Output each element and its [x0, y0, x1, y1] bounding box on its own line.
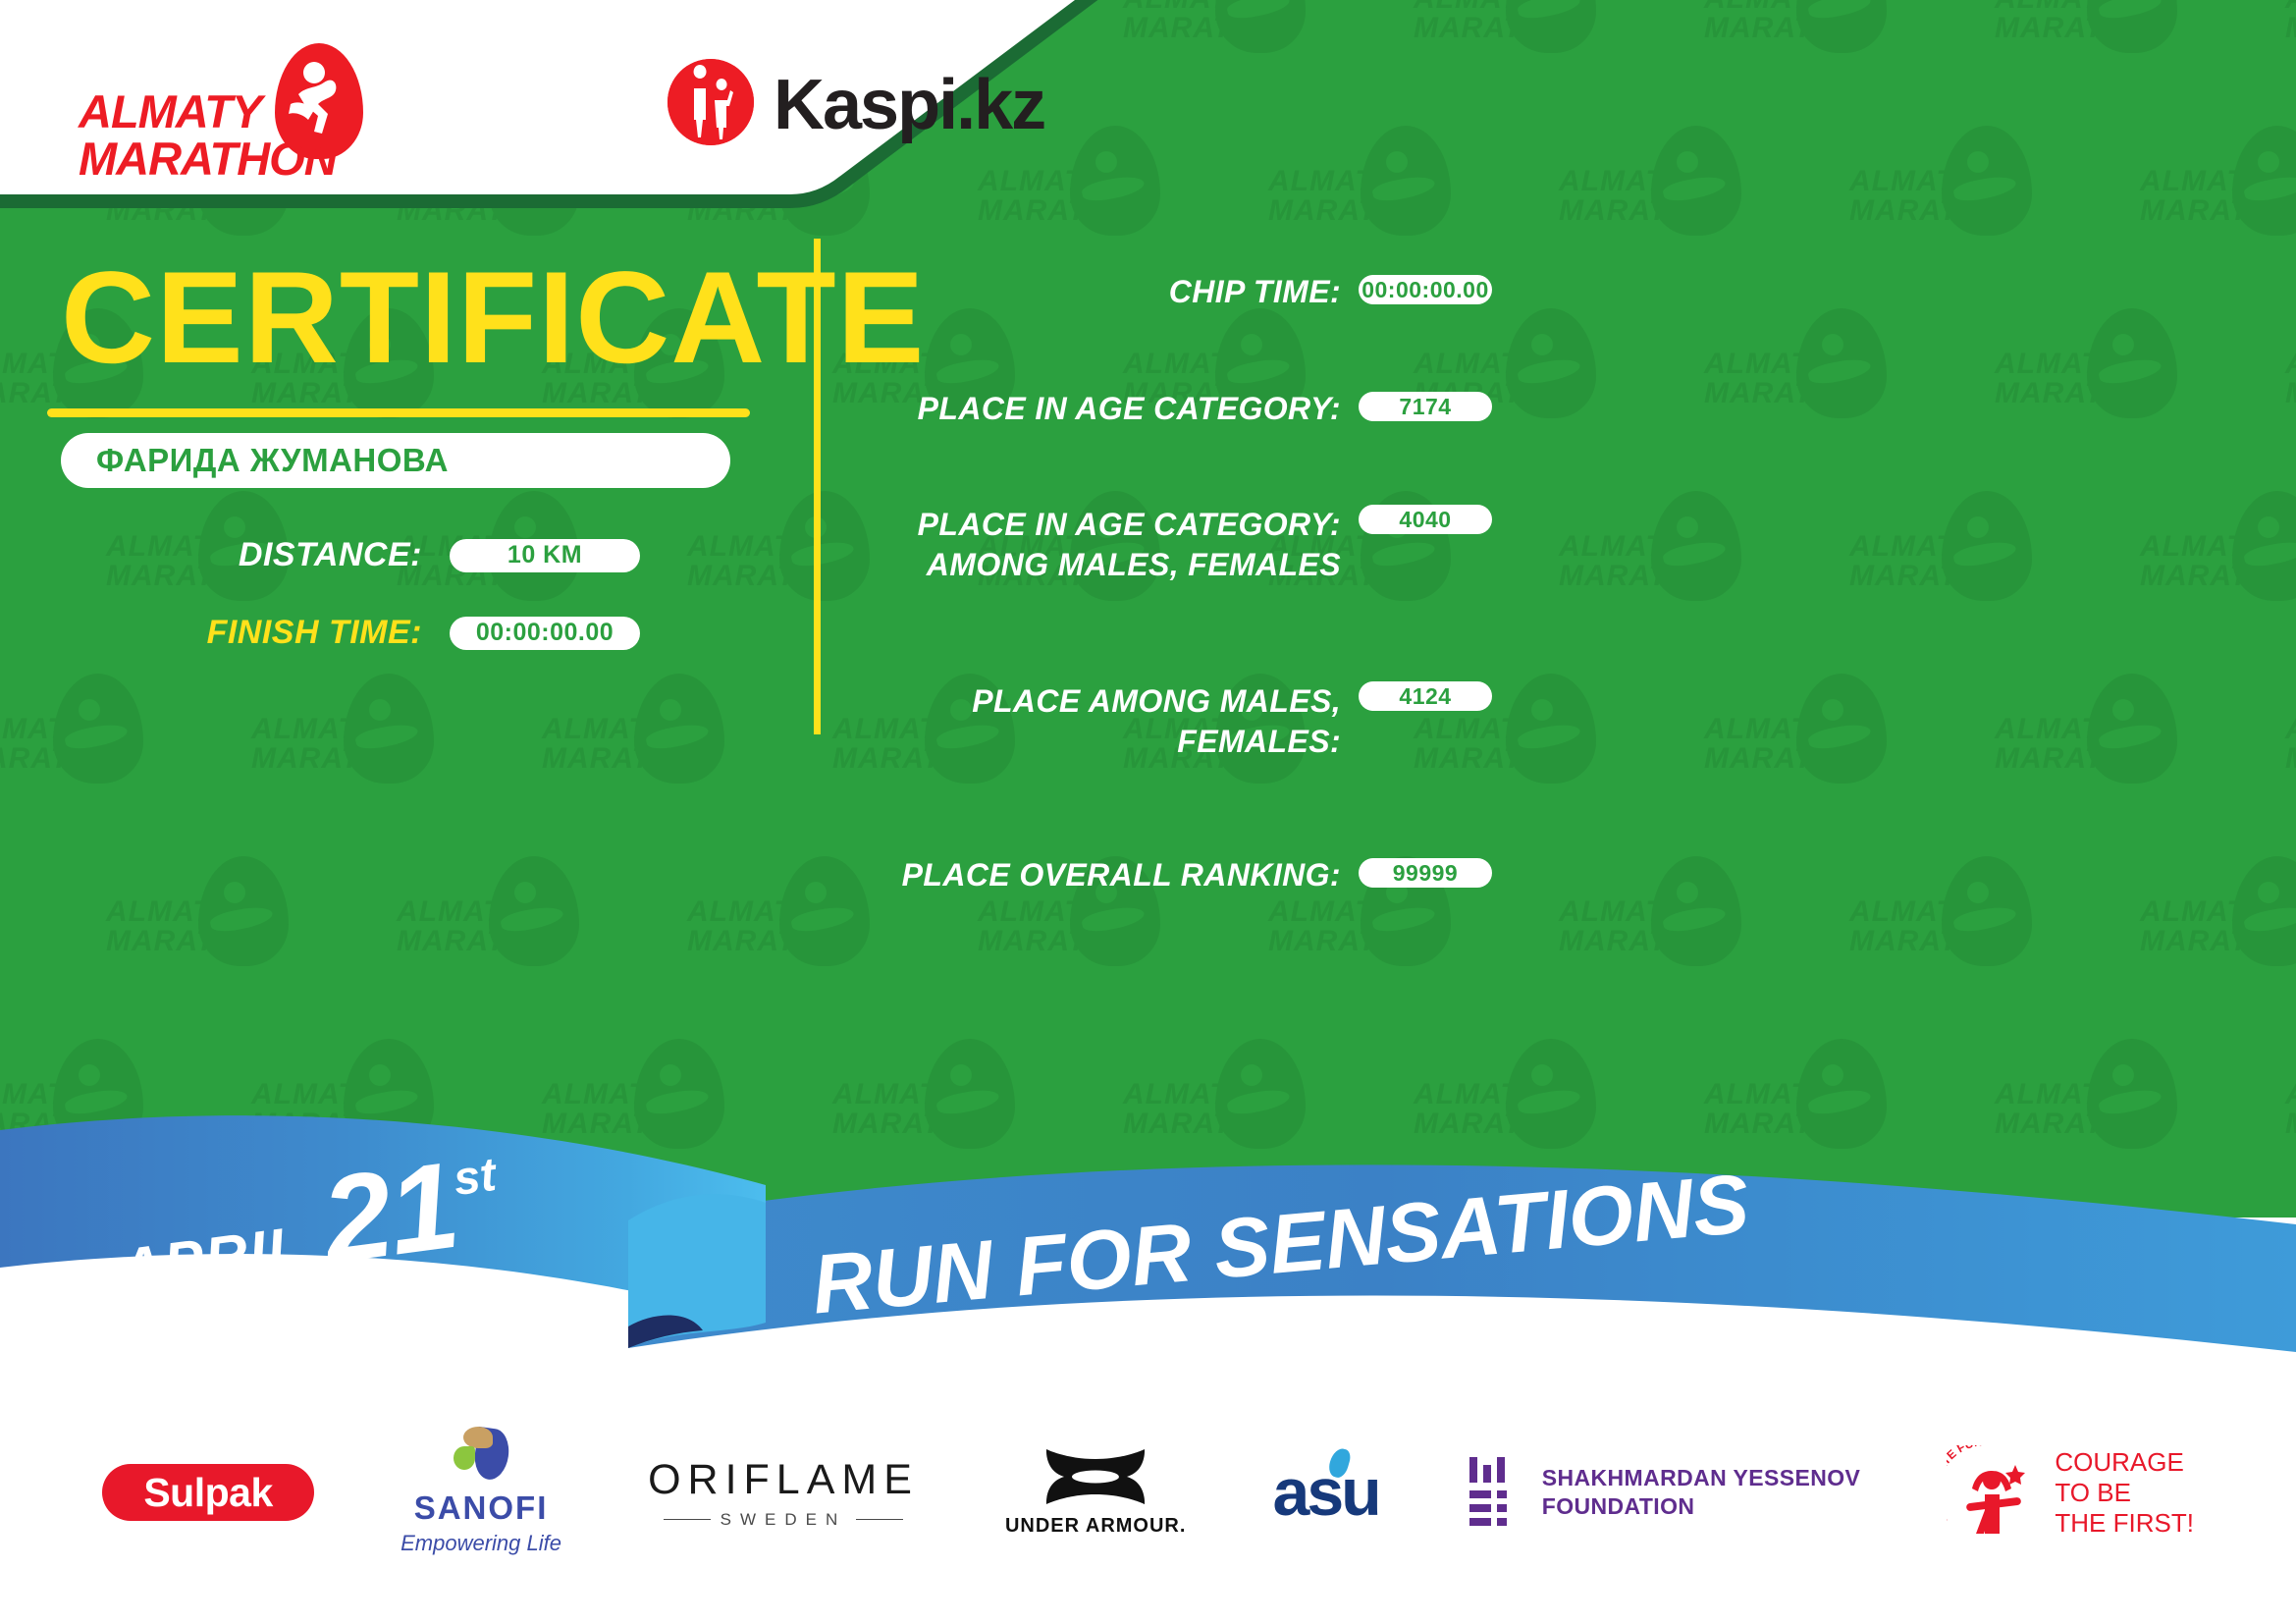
sulpak-wordmark: Sulpak: [143, 1470, 272, 1516]
watermark-drop-icon: [1796, 0, 1887, 53]
watermark-drop-icon: [198, 856, 289, 966]
watermark-drop-icon: [1651, 856, 1741, 966]
yessenov-mark-icon: [1466, 1453, 1521, 1532]
almaty-marathon-logo: ALMATY MARATHON: [79, 43, 402, 171]
certificate-page: ALMATY MARATHONALMATY MARATHONALMATY MAR…: [0, 0, 2296, 1624]
sponsor-logo-sanofi: SANOFI Empowering Life: [400, 1429, 561, 1556]
under-armour-wordmark: UNDER ARMOUR.: [1005, 1515, 1186, 1538]
watermark-tile: ALMATY MARATHON: [1849, 124, 2046, 291]
watermark-drop-icon: [489, 856, 579, 966]
watermark-tile: ALMATY MARATHON: [2285, 672, 2296, 839]
oriflame-tagline: SWEDEN: [664, 1510, 904, 1530]
watermark-tile: ALMATY MARATHON: [2140, 854, 2296, 1021]
watermark-tile: ALMATY MARATHON: [2140, 489, 2296, 656]
place-overall-ranking-label: PLACE OVERALL RANKING:: [844, 856, 1341, 894]
under-armour-mark-icon: [1041, 1447, 1150, 1506]
courage-fund-mark-icon: CORPORATE FUND: [1947, 1445, 2041, 1540]
place-overall-ranking-row: PLACE OVERALL RANKING: 99999: [844, 856, 1492, 894]
place-age-category-row: PLACE IN AGE CATEGORY: 7174: [844, 390, 1492, 428]
sponsor-logo-under-armour: UNDER ARMOUR.: [1005, 1447, 1186, 1538]
watermark-tile: ALMATY MARATHON: [397, 854, 593, 1021]
title-underline-rule: [47, 408, 750, 417]
chip-time-row: CHIP TIME: 00:00:00.00: [844, 273, 1492, 311]
chip-time-value: 00:00:00.00: [1359, 275, 1492, 304]
yessenov-wordmark: SHAKHMARDAN YESSENOV FOUNDATION: [1542, 1464, 1861, 1521]
watermark-drop-icon: [2087, 674, 2177, 784]
finish-time-label: FINISH TIME:: [118, 614, 422, 652]
watermark-tile: ALMATY MARATHON: [542, 672, 738, 839]
sponsor-logo-oriflame: ORIFLAME SWEDEN: [648, 1456, 919, 1530]
watermark-text: ALMATY MARATHON: [2285, 715, 2296, 774]
watermark-tile: ALMATY MARATHON: [1849, 854, 2046, 1021]
participant-name-field: ФАРИДА ЖУМАНОВА: [61, 433, 730, 488]
watermark-drop-icon: [2232, 491, 2296, 601]
chip-time-label: CHIP TIME:: [844, 273, 1341, 311]
watermark-tile: ALMATY MARATHON: [2140, 124, 2296, 291]
watermark-tile: ALMATY MARATHON: [1559, 489, 1755, 656]
sponsor-logo-asu: asu: [1273, 1454, 1379, 1531]
watermark-tile: ALMATY MARATHON: [1704, 306, 1900, 473]
oriflame-wordmark: ORIFLAME: [648, 1456, 919, 1504]
watermark-drop-icon: [1506, 674, 1596, 784]
vertical-divider: [814, 239, 821, 734]
watermark-drop-icon: [53, 674, 143, 784]
distance-label: DISTANCE:: [118, 536, 422, 574]
watermark-text: ALMATY MARATHON: [2285, 0, 2296, 43]
sponsor-logo-yessenov-foundation: SHAKHMARDAN YESSENOV FOUNDATION: [1466, 1453, 1861, 1532]
watermark-drop-icon: [1506, 308, 1596, 418]
asu-wordmark: asu: [1273, 1454, 1379, 1531]
watermark-tile: ALMATY MARATHON: [0, 672, 157, 839]
place-among-gender-value: 4124: [1359, 681, 1492, 711]
distance-value: 10 KM: [450, 539, 640, 572]
watermark-drop-icon: [1796, 308, 1887, 418]
place-overall-ranking-value: 99999: [1359, 858, 1492, 888]
watermark-text: ALMATY MARATHON: [2285, 350, 2296, 408]
place-age-category-gender-row: PLACE IN AGE CATEGORY: AMONG MALES, FEMA…: [844, 505, 1492, 585]
sponsor-logo-strip: Sulpak SANOFI Empowering Life ORIFLAME S…: [0, 1404, 2296, 1581]
watermark-tile: ALMATY MARATHON: [1995, 306, 2191, 473]
watermark-tile: ALMATY MARATHON: [1704, 672, 1900, 839]
watermark-tile: ALMATY MARATHON: [1414, 0, 1610, 108]
sponsor-logo-courage-fund: CORPORATE FUND COURAGE TO BE THE FIRST!: [1947, 1445, 2194, 1540]
place-age-category-gender-label: PLACE IN AGE CATEGORY: AMONG MALES, FEMA…: [844, 505, 1341, 585]
watermark-drop-icon: [2087, 0, 2177, 53]
place-among-gender-row: PLACE AMONG MALES, FEMALES: 4124: [844, 681, 1492, 762]
watermark-tile: ALMATY MARATHON: [1704, 0, 1900, 108]
watermark-drop-icon: [1361, 126, 1451, 236]
watermark-drop-icon: [1651, 126, 1741, 236]
distance-row: DISTANCE: 10 KM: [118, 536, 640, 574]
header-logos: ALMATY MARATHON Kaspi.kz: [0, 0, 1178, 275]
kaspi-wordmark: Kaspi.kz: [774, 65, 1044, 145]
sanofi-tagline: Empowering Life: [400, 1531, 561, 1556]
watermark-tile: ALMATY MARATHON: [1559, 124, 1755, 291]
watermark-drop-icon: [2232, 126, 2296, 236]
watermark-drop-icon: [2087, 308, 2177, 418]
place-among-gender-label: PLACE AMONG MALES, FEMALES:: [844, 681, 1341, 762]
watermark-drop-icon: [634, 674, 724, 784]
place-age-category-gender-value: 4040: [1359, 505, 1492, 534]
watermark-tile: ALMATY MARATHON: [2285, 0, 2296, 108]
watermark-drop-icon: [1796, 674, 1887, 784]
watermark-drop-icon: [1651, 491, 1741, 601]
watermark-tile: ALMATY MARATHON: [1995, 672, 2191, 839]
watermark-tile: ALMATY MARATHON: [1995, 0, 2191, 108]
watermark-drop-icon: [1942, 491, 2032, 601]
almaty-marathon-wordmark: ALMATY MARATHON: [79, 88, 337, 183]
courage-fund-wordmark: COURAGE TO BE THE FIRST!: [2055, 1447, 2194, 1539]
stats-panel: CHIP TIME: 00:00:00.00 PLACE IN AGE CATE…: [844, 244, 1492, 519]
watermark-tile: ALMATY MARATHON: [1559, 854, 1755, 1021]
place-age-category-label: PLACE IN AGE CATEGORY:: [844, 390, 1341, 428]
watermark-tile: ALMATY MARATHON: [106, 854, 302, 1021]
place-age-category-value: 7174: [1359, 392, 1492, 421]
finish-time-value: 00:00:00.00: [450, 617, 640, 650]
watermark-drop-icon: [2232, 856, 2296, 966]
sanofi-wordmark: SANOFI: [414, 1489, 549, 1527]
watermark-drop-icon: [1942, 126, 2032, 236]
finish-time-row: FINISH TIME: 00:00:00.00: [118, 614, 640, 652]
watermark-tile: ALMATY MARATHON: [1849, 489, 2046, 656]
watermark-tile: ALMATY MARATHON: [2285, 306, 2296, 473]
kaspi-mark-icon: [667, 59, 754, 145]
sanofi-mark-icon: [450, 1429, 512, 1486]
event-date-suffix: st: [451, 1148, 500, 1207]
event-date-day: 21: [315, 1135, 465, 1291]
watermark-drop-icon: [1942, 856, 2032, 966]
watermark-drop-icon: [1506, 0, 1596, 53]
watermark-drop-icon: [344, 674, 434, 784]
watermark-tile: ALMATY MARATHON: [251, 672, 448, 839]
sponsor-logo-sulpak: Sulpak: [102, 1464, 314, 1521]
participant-name-value: ФАРИДА ЖУМАНОВА: [96, 442, 449, 479]
event-date-month: APRIL: [116, 1213, 309, 1304]
